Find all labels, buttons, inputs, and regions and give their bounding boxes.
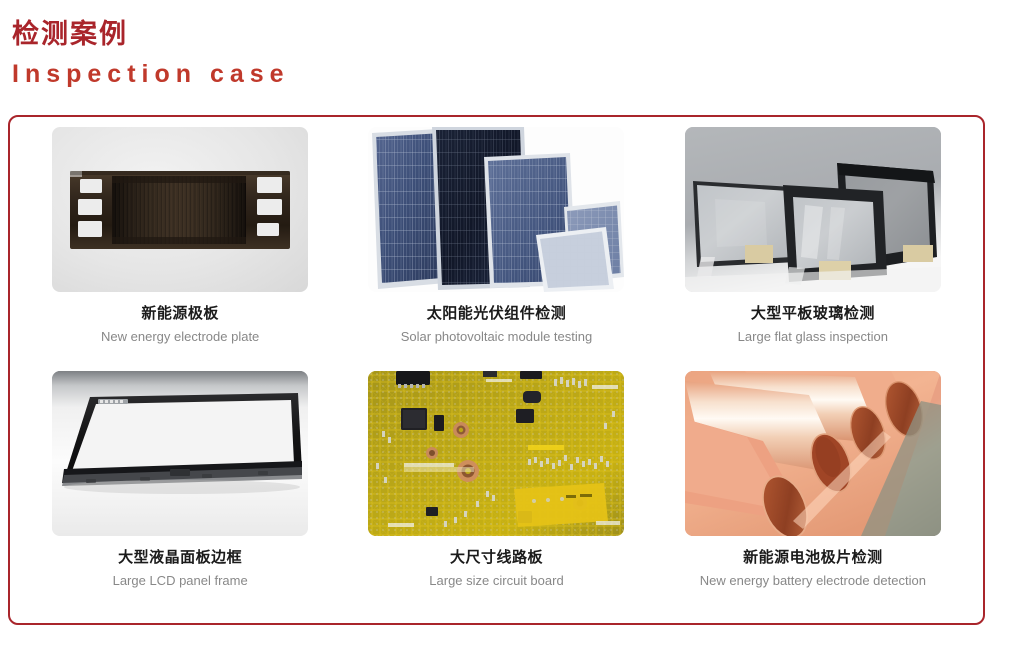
case-caption-english: Large size circuit board <box>429 572 563 589</box>
case-card-circuit-board[interactable]: 大尺寸线路板 Large size circuit board <box>338 371 654 615</box>
case-card-solar-module[interactable]: 太阳能光伏组件检测 Solar photovoltaic module test… <box>338 127 654 371</box>
large-size-circuit-board-photo[interactable] <box>368 371 624 536</box>
case-caption-english: Large LCD panel frame <box>113 572 248 589</box>
case-caption-english: Solar photovoltaic module testing <box>401 328 593 345</box>
case-caption-chinese: 大尺寸线路板 <box>450 548 543 567</box>
case-caption-chinese: 新能源电池极片检测 <box>743 548 883 567</box>
case-caption-english: New energy electrode plate <box>101 328 259 345</box>
case-caption-chinese: 新能源极板 <box>141 304 219 323</box>
case-card-lcd-frame[interactable]: 大型液晶面板边框 Large LCD panel frame <box>22 371 338 615</box>
large-lcd-panel-frame-photo[interactable] <box>52 371 308 536</box>
case-caption-english: Large flat glass inspection <box>738 328 888 345</box>
case-caption-chinese: 大型液晶面板边框 <box>118 548 242 567</box>
case-caption-chinese: 太阳能光伏组件检测 <box>427 304 567 323</box>
case-card-electrode-plate[interactable]: 新能源极板 New energy electrode plate <box>22 127 338 371</box>
page-title-chinese: 检测案例 <box>12 18 290 52</box>
inspection-case-grid: 新能源极板 New energy electrode plate <box>10 117 983 623</box>
large-flat-glass-panels-photo[interactable] <box>685 127 941 292</box>
solar-photovoltaic-modules-photo[interactable] <box>368 127 624 292</box>
new-energy-battery-electrode-photo[interactable] <box>685 371 941 536</box>
page-title-english: Inspection case <box>12 58 290 90</box>
case-card-battery-electrode[interactable]: 新能源电池极片检测 New energy battery electrode d… <box>655 371 971 615</box>
inspection-case-frame: 新能源极板 New energy electrode plate <box>8 115 985 625</box>
case-caption-chinese: 大型平板玻璃检测 <box>751 304 875 323</box>
new-energy-electrode-plate-photo[interactable] <box>52 127 308 292</box>
case-caption-english: New energy battery electrode detection <box>700 572 926 589</box>
case-card-flat-glass[interactable]: 大型平板玻璃检测 Large flat glass inspection <box>655 127 971 371</box>
page-heading: 检测案例 Inspection case <box>12 18 290 90</box>
